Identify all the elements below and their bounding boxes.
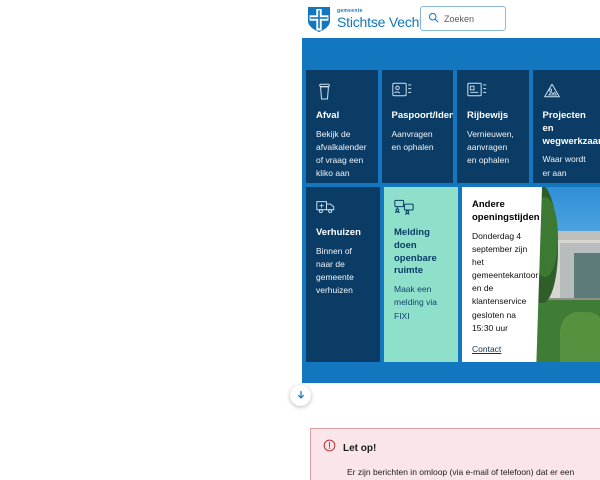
card-paspoort-identiteitskaart[interactable]: Paspoort/Identiteitskaart Aanvragen en o… — [382, 70, 454, 183]
card-title: Paspoort/Identiteitskaart — [392, 110, 444, 123]
card-title: Afval — [316, 110, 368, 123]
scroll-down-button[interactable] — [290, 385, 311, 406]
card-description: Bekijk de afvalkalender of vraag een kli… — [316, 128, 368, 181]
card-projecten-wegwerkzaamheden[interactable]: Projecten en wegwerkzaamheden Waar wordt… — [533, 70, 600, 183]
browser-page-viewport: gemeente Stichtse Vecht Zoeken — [0, 0, 600, 480]
report-speech-bubbles-icon — [394, 199, 448, 219]
card-title: Verhuizen — [316, 227, 370, 240]
moving-truck-icon — [316, 199, 370, 219]
card-title: Andere openingstijden — [472, 199, 533, 225]
card-title: Melding doen openbare ruimte — [394, 227, 448, 278]
card-melding-doen-openbare-ruimte[interactable]: Melding doen openbare ruimte Maak een me… — [384, 187, 458, 362]
site-header: gemeente Stichtse Vecht Zoeken — [302, 0, 600, 38]
id-card-icon — [392, 82, 444, 102]
search-input[interactable]: Zoeken — [444, 14, 474, 24]
card-description: Aanvragen en ophalen — [392, 128, 444, 154]
card-title: Rijbewijs — [467, 110, 519, 123]
roadworks-icon — [543, 82, 595, 102]
card-afval[interactable]: Afval Bekijk de afvalkalender of vraag e… — [306, 70, 378, 183]
quicklink-card-grid: Afval Bekijk de afvalkalender of vraag e… — [306, 70, 600, 362]
arrow-down-icon — [296, 387, 306, 405]
search-field[interactable]: Zoeken — [420, 6, 506, 31]
drivers-license-icon — [467, 82, 519, 102]
opening-hours-panel: Andere openingstijden Donderdag 4 septem… — [462, 187, 542, 362]
waste-bin-icon — [316, 82, 368, 102]
logo-name: Stichtse Vecht — [337, 15, 423, 29]
alert-text: Er zijn berichten in omloop (via e-mail … — [347, 465, 588, 480]
site-logo-link[interactable]: gemeente Stichtse Vecht — [307, 6, 423, 33]
exclamation-circle-icon — [323, 439, 336, 457]
alert-banner: Let op! Er zijn berichten in omloop (via… — [310, 428, 600, 480]
card-andere-openingstijden[interactable]: Andere openingstijden Donderdag 4 septem… — [462, 187, 600, 362]
card-title: Projecten en wegwerkzaamheden — [543, 110, 595, 148]
alert-title: Let op! — [343, 443, 376, 454]
card-row-1: Afval Bekijk de afvalkalender of vraag e… — [306, 70, 600, 183]
card-rijbewijs[interactable]: Rijbewijs Vernieuwen, aanvragen en ophal… — [457, 70, 529, 183]
hero-section: Afval Bekijk de afvalkalender of vraag e… — [302, 38, 600, 383]
card-description: Waar wordt er aan gewerkt? — [543, 153, 595, 183]
card-row-2: Verhuizen Binnen of naar de gemeente ver… — [306, 187, 600, 362]
card-description: Donderdag 4 september zijn het gemeentek… — [472, 230, 533, 335]
card-description: Binnen of naar de gemeente verhuizen — [316, 245, 370, 298]
contact-link[interactable]: Contact — [472, 344, 501, 354]
card-description: Vernieuwen, aanvragen en ophalen — [467, 128, 519, 168]
shield-logo-icon — [307, 6, 331, 33]
alert-header: Let op! — [323, 439, 588, 457]
card-verhuizen[interactable]: Verhuizen Binnen of naar de gemeente ver… — [306, 187, 380, 362]
page-left-gutter — [0, 0, 302, 480]
card-description: Maak een melding via FIXI — [394, 283, 448, 323]
search-icon — [428, 10, 439, 28]
